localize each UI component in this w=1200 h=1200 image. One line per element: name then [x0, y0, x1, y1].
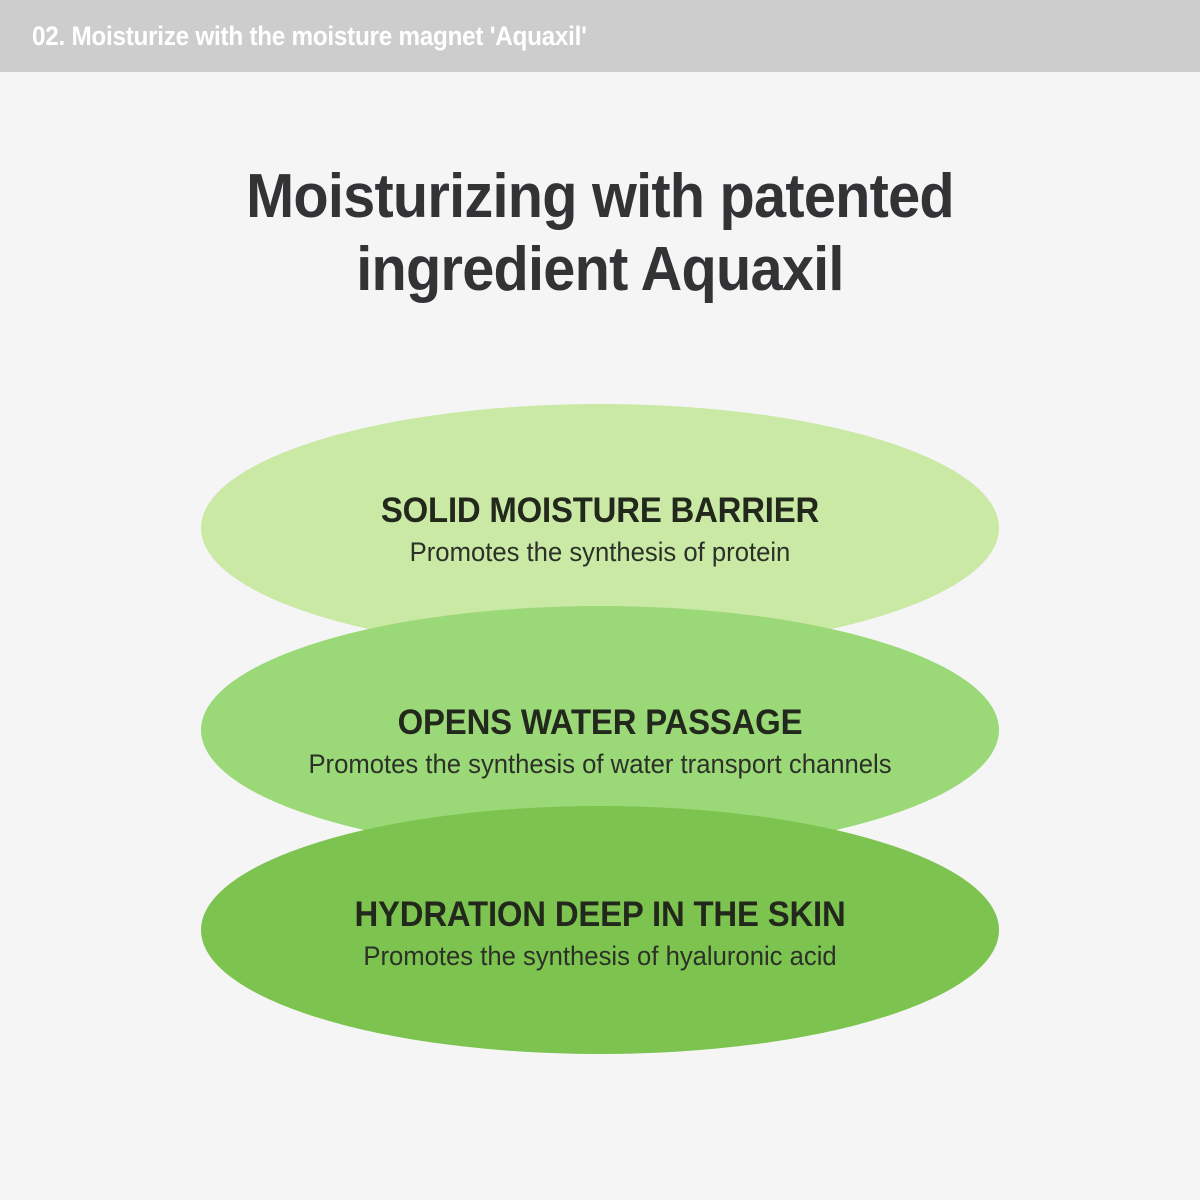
- ellipse-heading: OPENS WATER PASSAGE: [225, 704, 975, 742]
- ellipse-layer-text: OPENS WATER PASSAGE Promotes the synthes…: [201, 704, 999, 780]
- ellipse-heading: SOLID MOISTURE BARRIER: [225, 492, 975, 530]
- ellipse-subtext: Promotes the synthesis of protein: [221, 536, 979, 568]
- ellipse-layer-hydration-deep-in-the-skin: HYDRATION DEEP IN THE SKIN Promotes the …: [201, 806, 999, 1054]
- ellipse-heading: HYDRATION DEEP IN THE SKIN: [225, 896, 975, 934]
- ellipse-layer-text: SOLID MOISTURE BARRIER Promotes the synt…: [201, 492, 999, 568]
- ellipse-subtext: Promotes the synthesis of water transpor…: [221, 748, 979, 780]
- ellipse-stack-diagram: SOLID MOISTURE BARRIER Promotes the synt…: [0, 0, 1200, 1200]
- ellipse-subtext: Promotes the synthesis of hyaluronic aci…: [221, 940, 979, 972]
- ellipse-layer-text: HYDRATION DEEP IN THE SKIN Promotes the …: [201, 896, 999, 972]
